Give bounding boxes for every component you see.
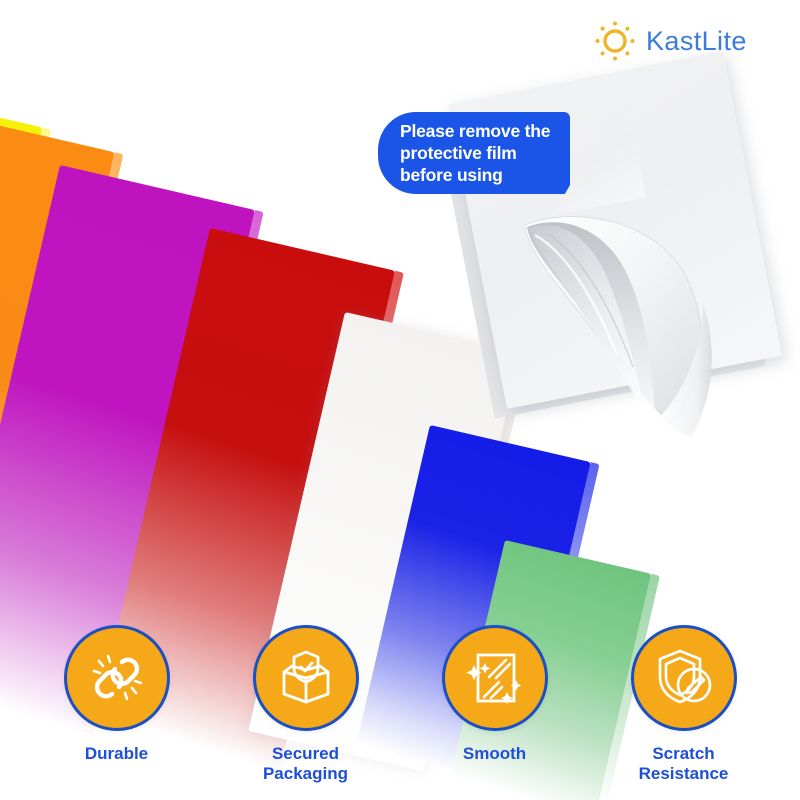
feature-label: Smooth <box>463 744 526 764</box>
feature-scratch-resistance: Scratch Resistance <box>601 625 766 784</box>
callout-text: Please remove the protective film before… <box>400 120 550 187</box>
feature-smooth: Smooth <box>412 625 577 764</box>
sun-icon <box>592 18 638 64</box>
chain-link-icon <box>86 647 148 709</box>
feature-label: Durable <box>85 744 148 764</box>
feature-label: Secured Packaging <box>263 744 348 784</box>
brand-wordmark: KastLite <box>646 26 747 57</box>
brand-logo: KastLite <box>592 18 747 64</box>
feature-icon-circle <box>64 625 170 731</box>
feature-list: Durable Secured Packaging <box>0 625 800 784</box>
feature-label: Scratch Resistance <box>639 744 729 784</box>
product-marketing-image: Please remove the protective film before… <box>0 0 800 800</box>
feature-secured-packaging: Secured Packaging <box>223 625 388 784</box>
feature-icon-circle <box>442 625 548 731</box>
protective-film-callout: Please remove the protective film before… <box>378 112 570 194</box>
feature-durable: Durable <box>34 625 199 764</box>
sparkle-panel-icon <box>464 647 526 709</box>
shield-box-icon <box>274 646 338 710</box>
feature-icon-circle <box>631 625 737 731</box>
shield-blade-icon <box>652 646 716 710</box>
feature-icon-circle <box>253 625 359 731</box>
